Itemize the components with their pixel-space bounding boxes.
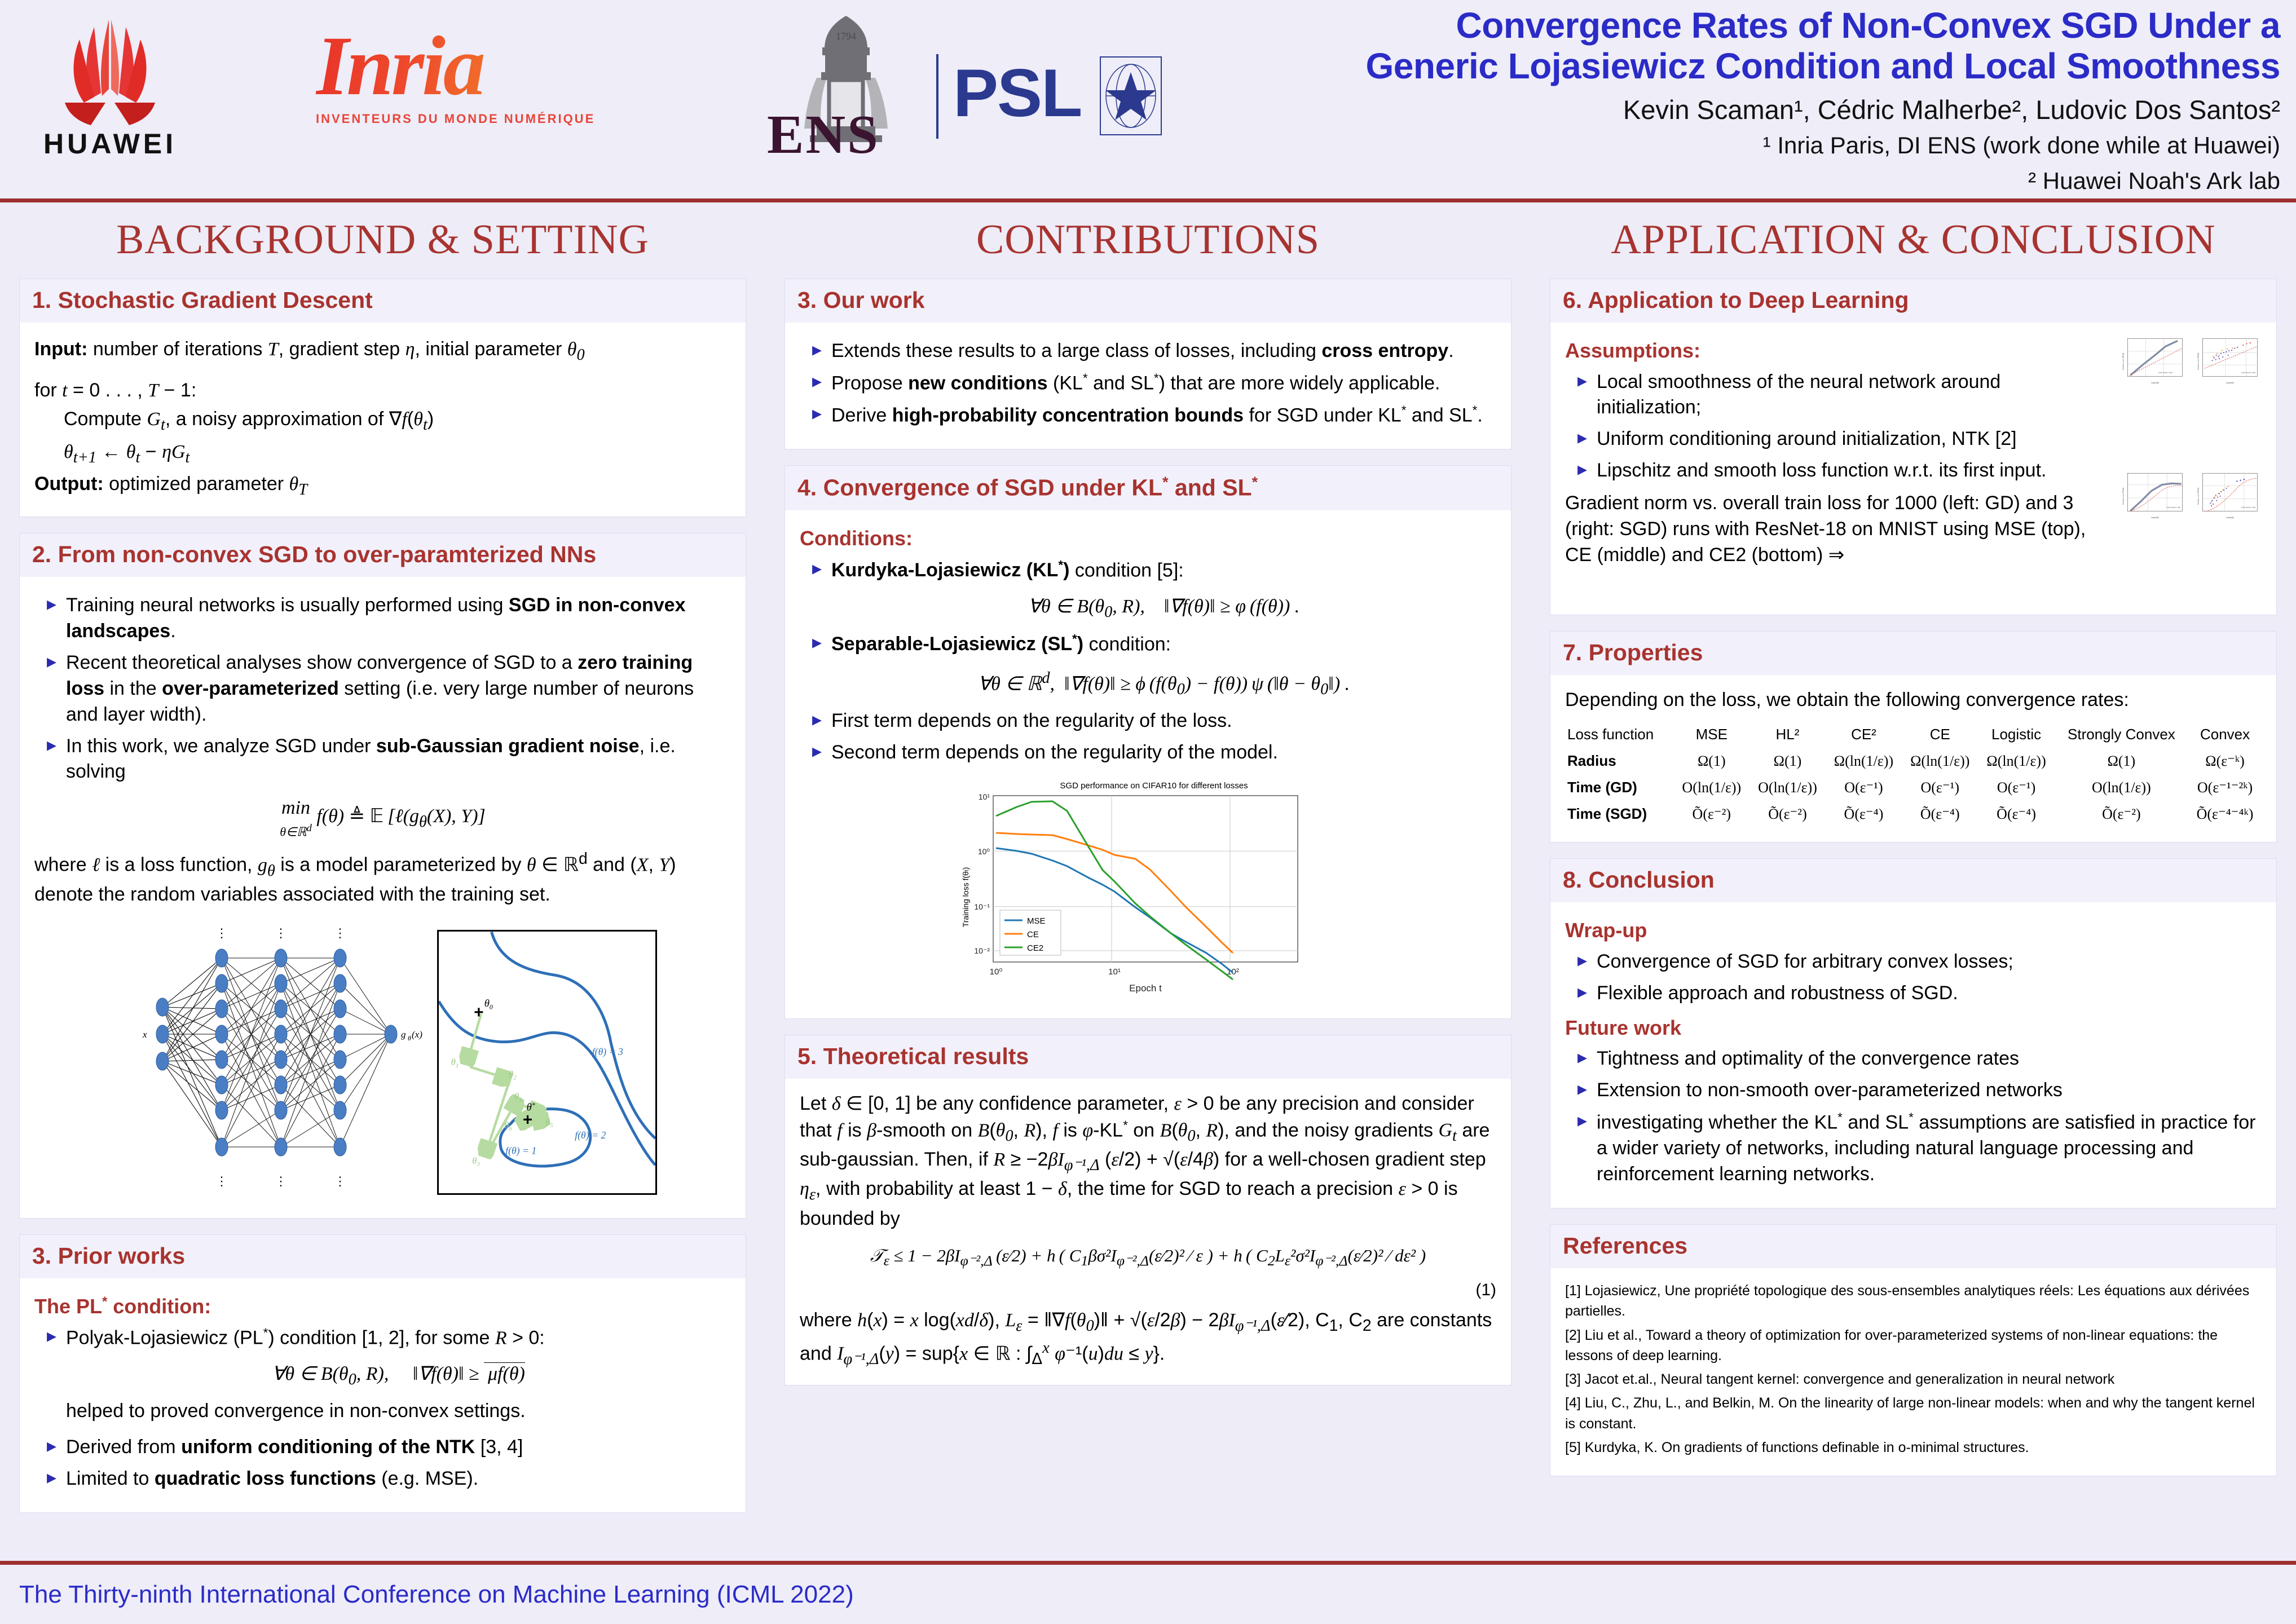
minifig-gd-2: Lower bound y = φ(x) Gradient norm ‖∇f(θ… (2116, 470, 2187, 523)
y-tick-1: 10¹ (978, 792, 990, 801)
inria-tagline: INVENTEURS DU MONDE NUMÉRIQUE (316, 112, 688, 126)
title-line-1: Convergence Rates of Non-Convex SGD Unde… (1158, 6, 2280, 46)
column-middle: CONTRIBUTIONS 3. Our work Extends these … (765, 206, 1531, 1559)
section-title-7: 7. Properties (1550, 632, 2276, 675)
col-strongly-convex: Strongly Convex (2055, 721, 2188, 748)
section-2-bullets: Training neural networks is usually perf… (34, 593, 731, 785)
section-title-8: 8. Conclusion (1550, 859, 2276, 902)
column-left: BACKGROUND & SETTING 1. Stochastic Gradi… (0, 206, 765, 1559)
algo-step-1: Compute Gt, a noisy approximation of ∇f(… (34, 405, 731, 437)
algo-input-line: Input: number of iterations T, gradient … (34, 335, 731, 367)
section-body-6: Assumptions: Local smoothness of the neu… (1550, 323, 2276, 615)
svg-text:⋮: ⋮ (275, 926, 287, 940)
svg-text:(x): (x) (412, 1029, 422, 1040)
section-title-1: 1. Stochastic Gradient Descent (20, 279, 746, 323)
col-logistic: Logistic (1978, 721, 2054, 748)
svg-text:θ3: θ3 (472, 1155, 480, 1168)
section-card-4: 4. Convergence of SGD under KL* and SL* … (785, 465, 1511, 1019)
equation-number: (1) (800, 1279, 1496, 1302)
ens-wordmark: ENS (767, 103, 880, 166)
svg-text:⋮: ⋮ (275, 1174, 287, 1188)
list-item: Lipschitz and smooth loss function w.r.t… (1574, 458, 2106, 484)
algo-output-line: Output: optimized parameter θT (34, 470, 731, 502)
contour-label-1: f(θ) = 1 (505, 1145, 536, 1156)
svg-text:Loss f(θ): Loss f(θ) (2151, 517, 2159, 519)
col-hl2: HL² (1749, 721, 1826, 748)
equation-min-problem: min θ∈ℝd f(θ) ≜ 𝔼 [ℓ(gθ(X), Y)] (34, 795, 731, 840)
legend-ce2: CE2 (1027, 943, 1043, 953)
inria-logo: Inria INVENTEURS DU MONDE NUMÉRIQUE (316, 24, 688, 159)
section-card-3: 3. Prior works The PL* condition: Polyak… (19, 1234, 746, 1513)
author-list: Kevin Scaman¹, Cédric Malherbe², Ludovic… (1158, 94, 2280, 125)
algo-output-label: Output: (34, 473, 104, 495)
list-item: Extends these results to a large class o… (809, 338, 1496, 364)
title-line-2: Generic Lojasiewicz Condition and Local … (1158, 46, 2280, 87)
list-item: In this work, we analyze SGD under sub-G… (43, 734, 731, 785)
svg-text:⋮: ⋮ (334, 1174, 346, 1188)
equation-kl-star: ∀θ ∈ B(θ0, R), ‖∇f(θ)‖ ≥ φ (f(θ)) . (831, 594, 1496, 623)
future-head: Future work (1565, 1014, 2262, 1042)
huawei-fan-icon (42, 17, 178, 127)
cell: O(ε⁻¹⁻²ᵏ) (2188, 774, 2262, 801)
list-item: Derive high-probability concentration bo… (809, 402, 1496, 429)
svg-text:Loss f(θ): Loss f(θ) (2226, 517, 2234, 519)
svg-text:Gradient norm ‖∇f(θ)‖: Gradient norm ‖∇f(θ)‖ (2197, 487, 2199, 505)
wrapup-head: Wrap-up (1565, 917, 2262, 945)
section-body-3: The PL* condition: Polyak-Lojasiewicz (P… (20, 1278, 746, 1513)
legend-ce: CE (1027, 930, 1039, 939)
section-7-intro: Depending on the loss, we obtain the fol… (1565, 687, 2262, 713)
table-row: Time (GD) O(ln(1/ε)) O(ln(1/ε)) O(ε⁻¹) O… (1565, 774, 2262, 801)
cell: Õ(ε⁻²) (2055, 801, 2188, 827)
list-item: Flexible approach and robustness of SGD. (1574, 981, 2262, 1007)
table-header-time-sgd: Time (SGD) (1565, 801, 1673, 827)
col-ce2: CE² (1826, 721, 1902, 748)
label-theta-0: θ0 (484, 998, 492, 1010)
section-3-after-equation: helped to proved convergence in non-conv… (66, 1398, 731, 1424)
algo-output-text: optimized parameter θT (109, 473, 307, 495)
section-title-2: 2. From non-convex SGD to over-paramteri… (20, 533, 746, 577)
affiliation-1: ¹ Inria Paris, DI ENS (work done while a… (1158, 131, 2280, 161)
svg-text:⋮: ⋮ (215, 926, 228, 940)
svg-text:θ: θ (408, 1034, 411, 1042)
future-bullets: Tightness and optimality of the converge… (1565, 1046, 2262, 1188)
cifar10-loss-chart: SGD performance on CIFAR10 for different… (954, 776, 1343, 1001)
nn-input-label: x (142, 1029, 147, 1040)
list-item: Separable-Lojasiewicz (SL*) condition: ∀… (809, 631, 1496, 701)
table-row: Radius Ω(1) Ω(1) Ω(ln(1/ε)) Ω(ln(1/ε)) Ω… (1565, 748, 2262, 774)
loss-landscape-diagram: θ0 θ* ++ θ1 θ2 θ3 θ4 θ5 (437, 930, 657, 1195)
section-card-7: 7. Properties Depending on the loss, we … (1550, 631, 2277, 842)
svg-text:+: + (522, 1110, 532, 1129)
svg-text:θ1: θ1 (451, 1056, 459, 1069)
chart-title: SGD performance on CIFAR10 for different… (1060, 781, 1248, 791)
section-card-ourwork: 3. Our work Extends these results to a l… (785, 279, 1511, 449)
title-block: Convergence Rates of Non-Convex SGD Unde… (1158, 6, 2280, 196)
svg-text:θ2: θ2 (509, 1069, 517, 1081)
section-body-4: Conditions: Kurdyka-Lojasiewicz (KL*) co… (785, 510, 1511, 1018)
equation-sl-star: ∀θ ∈ ℝd, ‖∇f(θ)‖ ≥ ϕ (f(θ0) − f(θ)) ψ (‖… (831, 668, 1496, 700)
section-title-5: 5. Theoretical results (785, 1035, 1511, 1079)
section-5-paragraph-2: where h(x) = x log(xd/δ), Lε = ‖∇f(θ0)‖ … (800, 1308, 1496, 1370)
algo-input-label: Input: (34, 338, 87, 360)
chart-ylabel: Training loss f(θt) (961, 867, 970, 928)
poster-columns: BACKGROUND & SETTING 1. Stochastic Gradi… (0, 206, 2296, 1559)
section-5-paragraph-1: Let δ ∈ [0, 1] be any confidence paramet… (800, 1091, 1496, 1232)
svg-text:θ5: θ5 (545, 1116, 553, 1129)
cell: Ω(1) (1673, 748, 1749, 774)
svg-text:θ4: θ4 (514, 1091, 522, 1103)
poster-header: HUAWEI Inria INVENTEURS DU MONDE NUMÉRIQ… (0, 0, 2296, 198)
poster-footer: The Thirty-ninth International Conferenc… (0, 1565, 2296, 1624)
algo-step-2: θt+1 ← θt − ηGt (34, 438, 731, 470)
poster-root: HUAWEI Inria INVENTEURS DU MONDE NUMÉRIQ… (0, 0, 2296, 1624)
section-3-subhead: The PL* condition: (34, 1293, 731, 1321)
cell: Õ(ε⁻²) (1749, 801, 1826, 827)
svg-text:Gradient norm ‖∇f(θ)‖: Gradient norm ‖∇f(θ)‖ (2122, 352, 2124, 370)
logo-strip: HUAWEI Inria INVENTEURS DU MONDE NUMÉRIQ… (0, 0, 1156, 198)
list-item: Tightness and optimality of the converge… (1574, 1046, 2262, 1072)
section-title-4: 4. Convergence of SGD under KL* and SL* (785, 466, 1511, 510)
nn-output-label: g (401, 1029, 406, 1040)
table-header-radius: Radius (1565, 748, 1673, 774)
list-item: Kurdyka-Lojasiewicz (KL*) condition [5]:… (809, 557, 1496, 623)
references-body: [1] Lojasiewicz, Une propriété topologiq… (1550, 1268, 2276, 1476)
section-body-2: Training neural networks is usually perf… (20, 577, 746, 1217)
convergence-rates-table: Loss function MSE HL² CE² CE Logistic St… (1565, 721, 2262, 827)
list-item: Uniform conditioning around initializati… (1574, 426, 2106, 452)
legend-mse: MSE (1027, 916, 1046, 926)
huawei-wordmark: HUAWEI (42, 127, 178, 160)
reference-item: [1] Lojasiewicz, Une propriété topologiq… (1565, 1281, 2262, 1322)
cell: O(ln(1/ε)) (1673, 774, 1749, 801)
svg-text:Lower bound y = φ(x): Lower bound y = φ(x) (2158, 371, 2172, 373)
col-convex: Convex (2188, 721, 2262, 748)
list-item: Training neural networks is usually perf… (43, 593, 731, 645)
section-card-references: References [1] Lojasiewicz, Une propriét… (1550, 1224, 2277, 1476)
list-item: investigating whether the KL* and SL* as… (1574, 1109, 2262, 1188)
minifig-sgd-1: Lower bound y = φ(x) Gradient norm ‖∇f(θ… (2191, 335, 2262, 388)
section-card-6: 6. Application to Deep Learning Assumpti… (1550, 279, 2277, 615)
reference-item: [4] Liu, C., Zhu, L., and Belkin, M. On … (1565, 1393, 2262, 1434)
algo-input-text: number of iterations T, gradient step η,… (93, 338, 585, 360)
section-4-bullets: Kurdyka-Lojasiewicz (KL*) condition [5]:… (800, 557, 1496, 766)
cell: O(ln(1/ε)) (2055, 774, 2188, 801)
header-divider (0, 198, 2296, 202)
list-item: Propose new conditions (KL* and SL*) tha… (809, 370, 1496, 396)
svg-text:Loss f(θ): Loss f(θ) (2151, 382, 2159, 384)
list-item: Derived from uniform conditioning of the… (43, 1435, 731, 1460)
section-title-3: 3. Prior works (20, 1235, 746, 1278)
y-tick-4: 10⁻² (974, 946, 990, 955)
table-header-lossfunction: Loss function (1565, 721, 1673, 748)
ourwork-bullets: Extends these results to a large class o… (800, 338, 1496, 429)
cell: O(ε⁻¹) (1978, 774, 2054, 801)
conference-name: The Thirty-ninth International Conferenc… (0, 1581, 854, 1609)
column-heading-contributions: CONTRIBUTIONS (785, 206, 1511, 279)
section-card-5: 5. Theoretical results Let δ ∈ [0, 1] be… (785, 1035, 1511, 1385)
cell: Ω(ln(1/ε)) (1978, 748, 2054, 774)
reference-item: [2] Liu et al., Toward a theory of optim… (1565, 1325, 2262, 1366)
col-mse: MSE (1673, 721, 1749, 748)
footer-divider (0, 1561, 2296, 1565)
list-item: Polyak-Lojasiewicz (PL*) condition [1, 2… (43, 1325, 731, 1424)
psl-divider (936, 54, 938, 139)
contour-label-2: f(θ) = 2 (575, 1129, 606, 1140)
column-heading-application: APPLICATION & CONCLUSION (1550, 206, 2277, 279)
section-2-figures: x g θ (x) ⋮⋮⋮ ⋮⋮⋮ (34, 921, 731, 1203)
table-row: Loss function MSE HL² CE² CE Logistic St… (1565, 721, 2262, 748)
list-item: Recent theoretical analyses show converg… (43, 650, 731, 728)
section-card-1: 1. Stochastic Gradient Descent Input: nu… (19, 279, 746, 517)
affiliation-2: ² Huawei Noah's Ark lab (1158, 166, 2280, 196)
table-row: Time (SGD) Õ(ε⁻²) Õ(ε⁻²) Õ(ε⁻⁴) Õ(ε⁻⁴) Õ… (1565, 801, 2262, 827)
cell: Ω(1) (2055, 748, 2188, 774)
section-6-bullets: Local smoothness of the neural network a… (1565, 369, 2106, 484)
cell: Ω(ln(1/ε)) (1826, 748, 1902, 774)
svg-text:Gradient norm ‖∇f(θ)‖: Gradient norm ‖∇f(θ)‖ (2122, 487, 2124, 505)
table-header-time-gd: Time (GD) (1565, 774, 1673, 801)
cell: Õ(ε⁻⁴) (1902, 801, 1978, 827)
y-tick-2: 10⁰ (977, 847, 990, 856)
section-card-2: 2. From non-convex SGD to over-paramteri… (19, 533, 746, 1218)
section-card-8: 8. Conclusion Wrap-up Convergence of SGD… (1550, 858, 2277, 1208)
cell: Õ(ε⁻²) (1673, 801, 1749, 827)
svg-text:+: + (474, 1003, 483, 1022)
psl-wordmark: PSL (953, 54, 1081, 132)
cell: O(ε⁻¹) (1826, 774, 1902, 801)
list-item: Extension to non-smooth over-parameteriz… (1574, 1078, 2262, 1104)
svg-text:Lower bound y = φ(x): Lower bound y = φ(x) (2166, 506, 2180, 508)
list-item: Limited to quadratic loss functions (e.g… (43, 1466, 731, 1492)
section-body-8: Wrap-up Convergence of SGD for arbitrary… (1550, 902, 2276, 1208)
section-body-ourwork: Extends these results to a large class o… (785, 323, 1511, 449)
cell: Ω(ln(1/ε)) (1902, 748, 1978, 774)
reference-item: [3] Jacot et.al., Neural tangent kernel:… (1565, 1369, 2262, 1389)
gradient-norm-scatter-grid: Lower bound y = φ(x) Gradient norm ‖∇f(θ… (2116, 335, 2262, 600)
y-tick-3: 10⁻¹ (974, 902, 990, 911)
section-4-subhead: Conditions: (800, 525, 1496, 553)
section-body-1: Input: number of iterations T, gradient … (20, 323, 746, 517)
list-item: First term depends on the regularity of … (809, 708, 1496, 734)
svg-text:Lower bound y = φ(x): Lower bound y = φ(x) (2241, 371, 2255, 373)
cell: Ω(ε⁻ᵏ) (2188, 748, 2262, 774)
minifig-sgd-2: Lower bound y = φ(x) Gradient norm ‖∇f(θ… (2191, 470, 2262, 523)
minifig-gd-1: Lower bound y = φ(x) Gradient norm ‖∇f(θ… (2116, 335, 2187, 388)
chart-xlabel: Epoch t (1129, 983, 1162, 994)
algo-for-line: for t = 0 . . . , T − 1: (34, 376, 731, 405)
col-ce: CE (1902, 721, 1978, 748)
neural-network-diagram: x g θ (x) ⋮⋮⋮ ⋮⋮⋮ (109, 921, 425, 1203)
huawei-logo: HUAWEI (42, 17, 178, 164)
x-tick-2: 10¹ (1108, 967, 1121, 977)
cell: O(ε⁻¹) (1902, 774, 1978, 801)
cifar10-chart-wrapper: SGD performance on CIFAR10 for different… (800, 771, 1496, 1004)
contour-label-3: f(θ) = 3 (592, 1046, 623, 1057)
section-6-subhead: Assumptions: (1565, 337, 2106, 365)
list-item: Second term depends on the regularity of… (809, 740, 1496, 766)
x-tick-1: 10⁰ (989, 967, 1002, 977)
psl-star-icon (1100, 56, 1162, 135)
cell: Õ(ε⁻⁴⁻⁴ᵏ) (2188, 801, 2262, 827)
equation-main-bound: 𝒯ε ≤ 1 − 2βIφ⁻²,Δ (ε⁄2) + h ( C1βσ²Iφ⁻²,… (800, 1244, 1496, 1271)
equation-pl-star: ∀θ ∈ B(θ0, R), ‖∇f(θ)‖ ≥ μf(θ) (66, 1361, 731, 1391)
svg-text:Loss f(θ): Loss f(θ) (2226, 382, 2234, 384)
svg-text:⋮: ⋮ (334, 926, 346, 940)
section-3-bullets: Polyak-Lojasiewicz (PL*) condition [1, 2… (34, 1325, 731, 1492)
reference-item: [5] Kurdyka, K. On gradients of function… (1565, 1437, 2262, 1458)
chart-legend: MSE CE CE2 (1000, 910, 1061, 955)
inria-wordmark: Inria (316, 24, 688, 108)
section-body-5: Let δ ∈ [0, 1] be any confidence paramet… (785, 1079, 1511, 1385)
svg-text:1794: 1794 (836, 30, 856, 42)
svg-text:Gradient norm ‖∇f(θ)‖: Gradient norm ‖∇f(θ)‖ (2197, 352, 2199, 370)
page-title: Convergence Rates of Non-Convex SGD Unde… (1158, 6, 2280, 86)
ens-psl-logo: 1794 ENS PSL (750, 10, 1145, 179)
section-title-references: References (1550, 1225, 2276, 1268)
svg-text:Lower bound y = φ(x): Lower bound y = φ(x) (2241, 506, 2255, 508)
column-right: APPLICATION & CONCLUSION 6. Application … (1531, 206, 2296, 1559)
section-body-7: Depending on the loss, we obtain the fol… (1550, 675, 2276, 842)
cell: Õ(ε⁻⁴) (1826, 801, 1902, 827)
cell: Õ(ε⁻⁴) (1978, 801, 2054, 827)
cell: Ω(1) (1749, 748, 1826, 774)
svg-text:⋮: ⋮ (215, 1174, 228, 1188)
cell: O(ln(1/ε)) (1749, 774, 1826, 801)
section-title-ourwork: 3. Our work (785, 279, 1511, 323)
list-item: Convergence of SGD for arbitrary convex … (1574, 949, 2262, 975)
list-item: Local smoothness of the neural network a… (1574, 369, 2106, 421)
section-2-after-equation: where ℓ is a loss function, gθ is a mode… (34, 848, 731, 907)
section-title-6: 6. Application to Deep Learning (1550, 279, 2276, 323)
column-heading-background: BACKGROUND & SETTING (19, 206, 746, 279)
section-6-caption: Gradient norm vs. overall train loss for… (1565, 491, 2106, 568)
wrapup-bullets: Convergence of SGD for arbitrary convex … (1565, 949, 2262, 1007)
